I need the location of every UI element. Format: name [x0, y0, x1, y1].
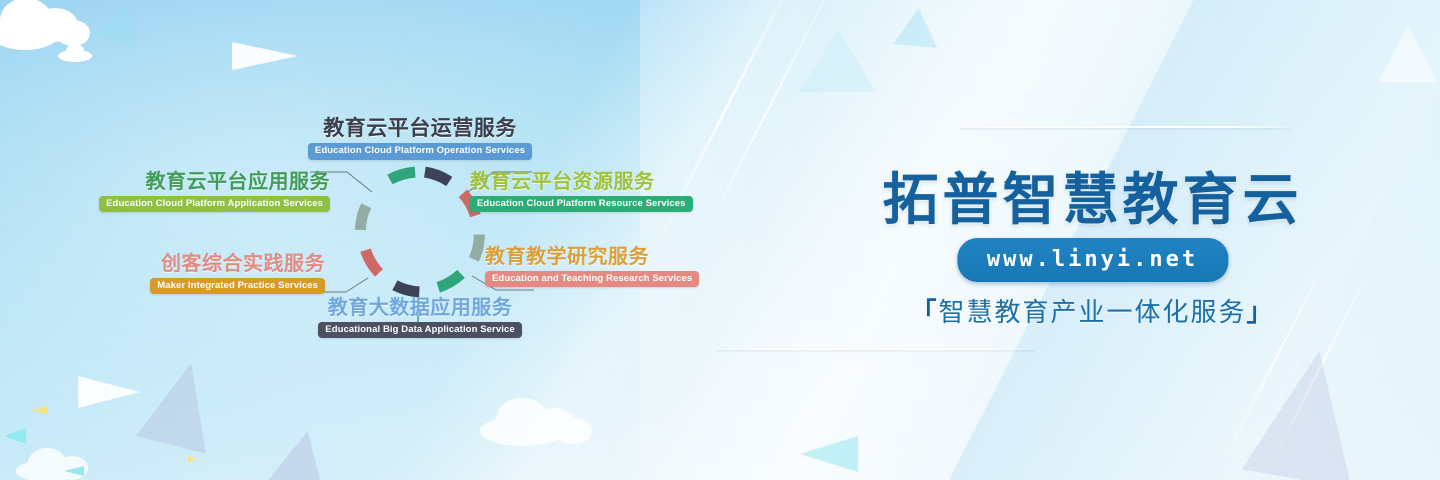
- label-research-cn: 教育教学研究服务: [485, 245, 785, 268]
- brand-title: 拓普智慧教育云: [745, 155, 1440, 236]
- slogan-text: 智慧教育产业一体化服务: [938, 298, 1246, 328]
- cloud-small-left: [58, 44, 94, 60]
- label-application: 教育云平台应用服务 Education Cloud Platform Appli…: [30, 170, 330, 212]
- triangle-yellow-dot: [188, 456, 196, 462]
- divider-top: [960, 126, 1290, 128]
- label-application-cn: 教育云平台应用服务: [30, 170, 330, 193]
- label-bigdata: 教育大数据应用服务 Educational Big Data Applicati…: [160, 296, 680, 338]
- divider-bottom: [715, 348, 1035, 350]
- triangle-cyan-bottom-left: [64, 466, 84, 476]
- triangle-white-top-mid: [232, 42, 298, 70]
- label-resource: 教育云平台资源服务 Education Cloud Platform Resou…: [470, 170, 770, 212]
- slogan-open-bracket: 「: [910, 298, 938, 328]
- label-maker-cn: 创客综合实践服务: [45, 252, 325, 275]
- triangle-white-mid-left: [78, 376, 140, 408]
- label-research-en: Education and Teaching Research Services: [485, 271, 699, 287]
- label-operation-cn: 教育云平台运营服务: [150, 116, 690, 140]
- label-research: 教育教学研究服务 Education and Teaching Research…: [485, 245, 785, 287]
- label-bigdata-cn: 教育大数据应用服务: [160, 296, 680, 319]
- brand-slogan: 「智慧教育产业一体化服务」: [745, 292, 1440, 329]
- cloud-bottom-center: [480, 392, 600, 448]
- triangle-yellow-small: [30, 406, 48, 414]
- website-url-pill[interactable]: www.linyi.net: [957, 238, 1228, 282]
- label-maker-en: Maker Integrated Practice Services: [150, 278, 325, 294]
- label-resource-cn: 教育云平台资源服务: [470, 170, 770, 193]
- label-operation: 教育云平台运营服务 Education Cloud Platform Opera…: [150, 116, 690, 160]
- slogan-close-bracket: 」: [1247, 298, 1275, 328]
- label-bigdata-en: Educational Big Data Application Service: [318, 322, 521, 338]
- label-application-en: Education Cloud Platform Application Ser…: [99, 196, 330, 212]
- label-maker: 创客综合实践服务 Maker Integrated Practice Servi…: [45, 252, 325, 294]
- triangle-cyan-left-edge: [4, 428, 26, 444]
- promo-banner: 教育云平台运营服务 Education Cloud Platform Opera…: [0, 0, 1440, 480]
- label-resource-en: Education Cloud Platform Resource Servic…: [470, 196, 693, 212]
- donut-ring: [350, 162, 490, 302]
- brand-panel: 拓普智慧教育云 www.linyi.net 「智慧教育产业一体化服务」: [745, 0, 1440, 480]
- service-wheel-diagram: 教育云平台运营服务 Education Cloud Platform Opera…: [150, 100, 690, 360]
- cloud-bottom-left: [16, 446, 96, 480]
- label-operation-en: Education Cloud Platform Operation Servi…: [308, 143, 532, 159]
